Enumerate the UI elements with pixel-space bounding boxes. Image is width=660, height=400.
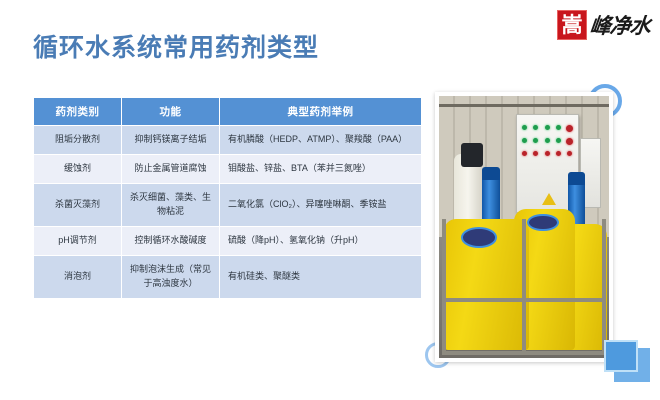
slide-root: 嵩 峰净水 循环水系统常用药剂类型 药剂类别 功能 典型药剂举例 阻垢分散剂 抑… <box>0 0 660 400</box>
lamp-green <box>522 138 527 143</box>
decorative-square-front <box>604 340 638 372</box>
cell-category: 消泡剂 <box>34 255 122 298</box>
lamp-red <box>566 138 573 145</box>
logo-wordmark: 峰净水 <box>588 10 651 40</box>
tank-lid <box>527 214 558 231</box>
cell-function: 抑制钙镁离子结垢 <box>122 126 220 155</box>
equipment-photo <box>435 92 613 362</box>
lamp-red <box>556 151 561 156</box>
table-row: 阻垢分散剂 抑制钙镁离子结垢 有机膦酸（HEDP、ATMP）、聚羧酸（PAA） <box>34 126 422 155</box>
cell-function: 防止金属管道腐蚀 <box>122 154 220 183</box>
support-post <box>522 219 526 355</box>
table-header-row: 药剂类别 功能 典型药剂举例 <box>34 98 422 126</box>
lamp-red <box>566 125 573 132</box>
support-post <box>442 219 446 355</box>
lamp-red <box>545 151 550 156</box>
cell-examples: 有机膦酸（HEDP、ATMP）、聚羧酸（PAA） <box>220 126 422 155</box>
lamp-green <box>533 125 538 130</box>
table-row: 缓蚀剂 防止金属管道腐蚀 钼酸盐、锌盐、BTA（苯并三氮唑） <box>34 154 422 183</box>
vessel-valve-head <box>461 143 483 167</box>
panel-indicator-lights <box>520 125 574 161</box>
lamp-red <box>522 151 527 156</box>
column-header-examples: 典型药剂举例 <box>220 98 422 126</box>
wall-beam <box>439 104 609 107</box>
cell-examples: 有机硅类、聚醚类 <box>220 255 422 298</box>
cell-category: 杀菌灭藻剂 <box>34 183 122 226</box>
lamp-green <box>556 125 561 130</box>
cell-category: 阻垢分散剂 <box>34 126 122 155</box>
column-header-function: 功能 <box>122 98 220 126</box>
support-post <box>602 219 606 355</box>
lamp-green <box>556 138 561 143</box>
lamp-green <box>545 125 550 130</box>
page-title: 循环水系统常用药剂类型 <box>33 28 319 64</box>
table-row: pH调节剂 控制循环水酸碱度 硫酸（降pH）、氢氧化钠（升pH） <box>34 226 422 255</box>
lamp-green <box>522 125 527 130</box>
cell-category: 缓蚀剂 <box>34 154 122 183</box>
cell-function: 抑制泡沫生成（常见于高浊度水） <box>122 255 220 298</box>
column-header-category: 药剂类别 <box>34 98 122 126</box>
mixer-motor-cap <box>482 167 501 180</box>
lamp-green <box>533 138 538 143</box>
photo-frame <box>435 92 613 362</box>
table-row: 杀菌灭藻剂 杀灭细菌、藻类、生物粘泥 二氧化氯（ClO₂）、异噻唑啉酮、季铵盐 <box>34 183 422 226</box>
lamp-red <box>533 151 538 156</box>
cell-examples: 钼酸盐、锌盐、BTA（苯并三氮唑） <box>220 154 422 183</box>
lamp-green <box>545 138 550 143</box>
cell-category: pH调节剂 <box>34 226 122 255</box>
table-row: 消泡剂 抑制泡沫生成（常见于高浊度水） 有机硅类、聚醚类 <box>34 255 422 298</box>
logo-seal-icon: 嵩 <box>557 10 587 40</box>
cell-examples: 硫酸（降pH）、氢氧化钠（升pH） <box>220 226 422 255</box>
photo-image <box>439 96 609 358</box>
chemical-types-table: 药剂类别 功能 典型药剂举例 阻垢分散剂 抑制钙镁离子结垢 有机膦酸（HEDP、… <box>33 97 422 299</box>
brand-logo: 嵩 峰净水 <box>557 8 650 42</box>
mixer-motor-cap <box>568 172 585 185</box>
warning-triangle-icon <box>542 193 556 205</box>
lamp-red <box>567 151 572 156</box>
cell-function: 杀灭细菌、藻类、生物粘泥 <box>122 183 220 226</box>
cell-examples: 二氧化氯（ClO₂）、异噻唑啉酮、季铵盐 <box>220 183 422 226</box>
cell-function: 控制循环水酸碱度 <box>122 226 220 255</box>
